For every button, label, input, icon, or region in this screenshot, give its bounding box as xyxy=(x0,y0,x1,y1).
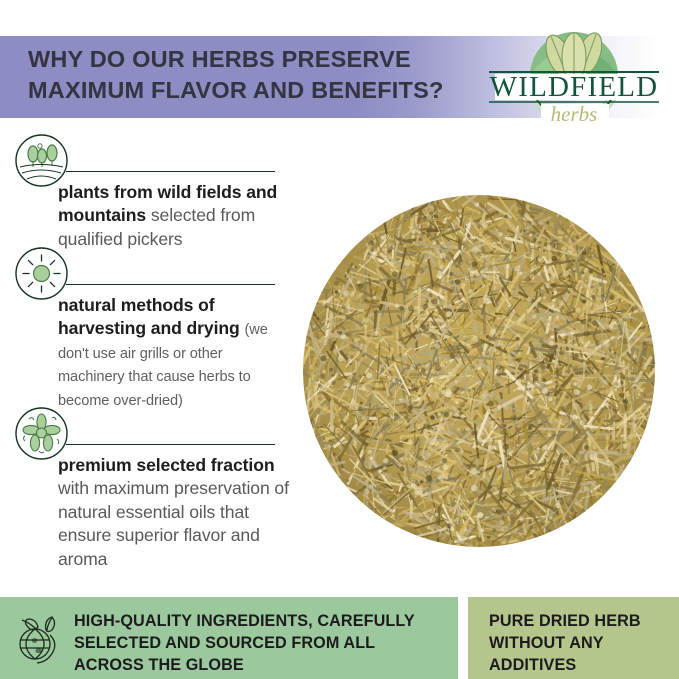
brand-logo: WILDFIELD herbs xyxy=(481,24,667,128)
banner-left-line-2: SELECTED AND SOURCED FROM ALL xyxy=(74,632,452,654)
infographic-page: WHY DO OUR HERBS PRESERVE MAXIMUM FLAVOR… xyxy=(0,0,679,679)
feature-bold-text: premium selected fraction xyxy=(58,455,275,475)
feature-divider xyxy=(66,444,275,445)
feature-item-natural-drying: natural methods of harvesting and drying… xyxy=(0,246,300,406)
banner-left-text: HIGH-QUALITY INGREDIENTS, CAREFULLY SELE… xyxy=(74,610,452,676)
feature-item-wild-fields: plants from wild fields and mountains se… xyxy=(0,133,300,245)
banner-high-quality: HIGH-QUALITY INGREDIENTS, CAREFULLY SELE… xyxy=(0,597,458,679)
logo-brand-name: WILDFIELD xyxy=(490,71,659,103)
page-title: WHY DO OUR HERBS PRESERVE MAXIMUM FLAVOR… xyxy=(28,44,458,106)
herb-flower-icon xyxy=(14,406,69,461)
banner-right-line-1: PURE DRIED HERB xyxy=(489,610,675,632)
banner-left-line-3: ACROSS THE GLOBE xyxy=(74,654,452,676)
banner-left-line-1: HIGH-QUALITY INGREDIENTS, CAREFULLY xyxy=(74,610,452,632)
banner-right-line-2: WITHOUT ANY xyxy=(489,632,675,654)
feature-divider xyxy=(66,284,275,285)
feature-divider xyxy=(66,171,275,172)
feature-rest-text: with maximum preservation of natural ess… xyxy=(58,478,289,568)
logo-brand-sub: herbs xyxy=(551,102,598,126)
page-title-line-1: WHY DO OUR HERBS PRESERVE xyxy=(28,46,411,72)
feature-bold-text: natural methods of harvesting and drying xyxy=(58,295,240,338)
feature-text: natural methods of harvesting and drying… xyxy=(58,294,290,411)
globe-leaf-icon xyxy=(12,613,64,665)
feature-text: plants from wild fields and mountains se… xyxy=(58,181,290,251)
sun-icon xyxy=(14,246,69,301)
page-title-line-2: MAXIMUM FLAVOR AND BENEFITS? xyxy=(28,75,458,106)
feature-text: premium selected fraction with maximum p… xyxy=(58,454,290,571)
plants-field-icon xyxy=(14,133,69,188)
banner-right-line-3: ADDITIVES xyxy=(489,654,675,676)
dried-herb-pile-image xyxy=(296,163,662,573)
feature-item-premium-fraction: premium selected fraction with maximum p… xyxy=(0,406,300,576)
banner-pure-dried: PURE DRIED HERB WITHOUT ANY ADDITIVES xyxy=(468,597,679,679)
banner-right-text: PURE DRIED HERB WITHOUT ANY ADDITIVES xyxy=(489,610,675,676)
